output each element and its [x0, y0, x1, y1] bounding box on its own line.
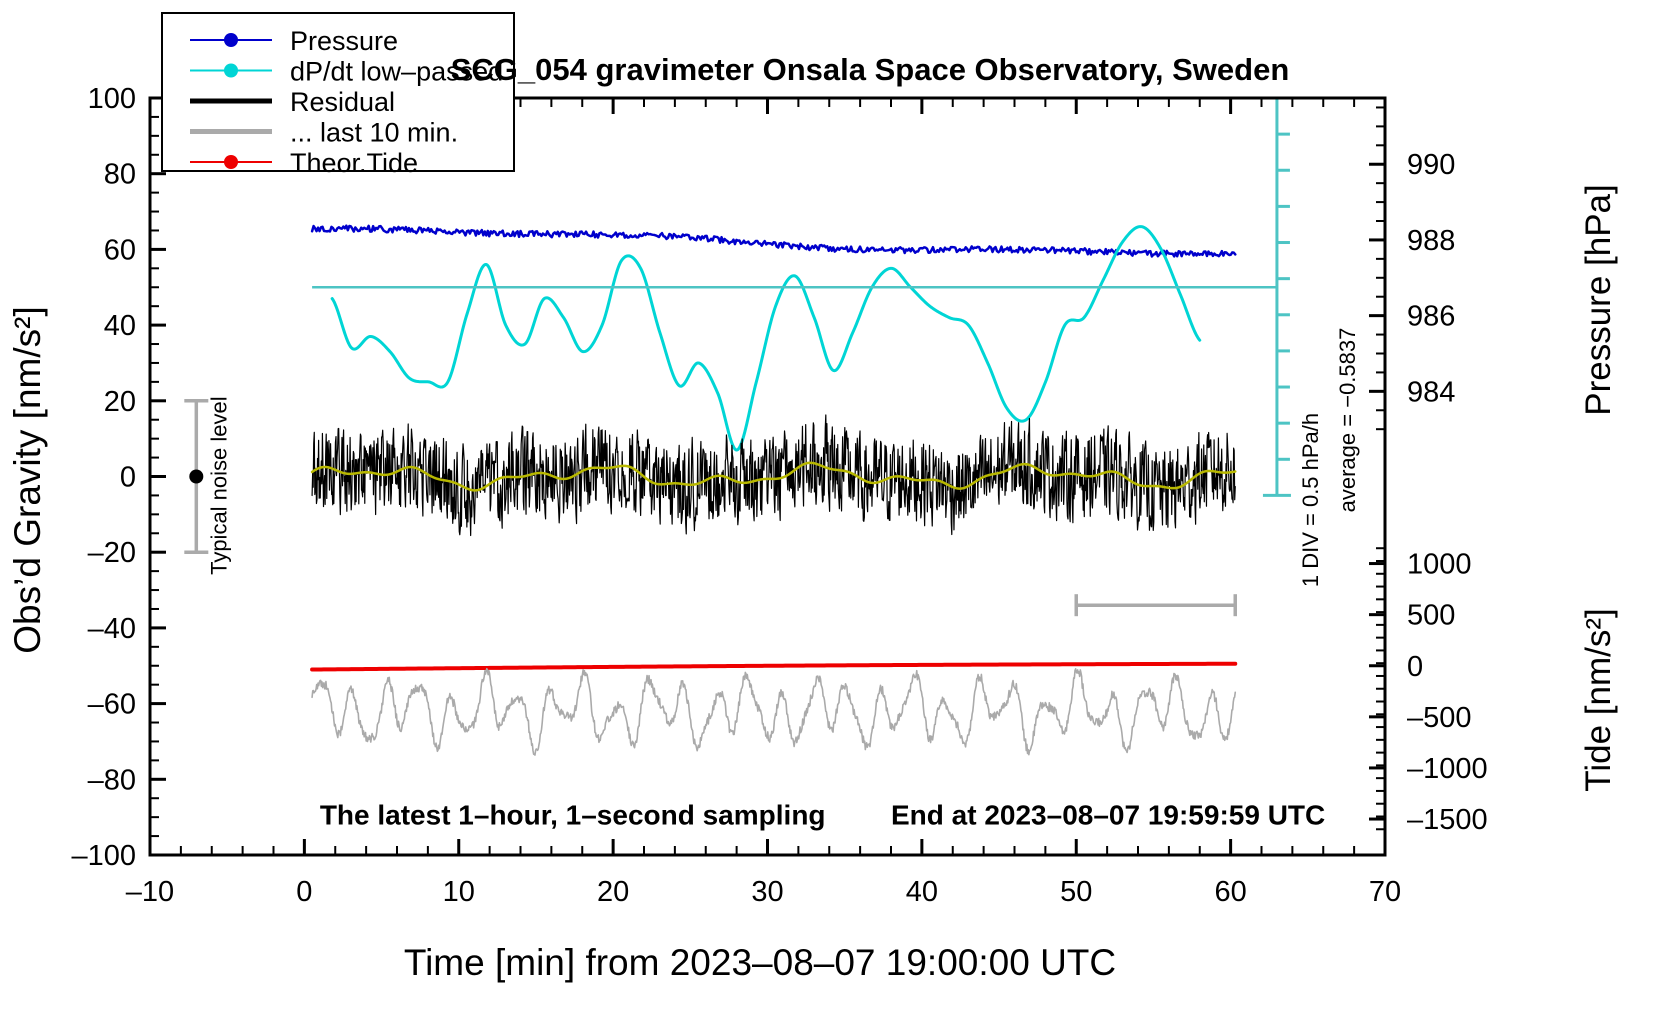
- legend-swatch-marker: [224, 155, 238, 169]
- legend-label: Theor.Tide: [290, 148, 418, 178]
- y-tick-label: 0: [120, 462, 136, 494]
- y-tick-label: 100: [88, 83, 136, 115]
- x-tick-label: 70: [1369, 876, 1401, 908]
- x-tick-label: 60: [1214, 876, 1246, 908]
- x-tick-label: –10: [126, 876, 174, 908]
- x-tick-label: 10: [443, 876, 475, 908]
- tide-axis-label: Tide [nm/s²]: [1579, 608, 1618, 791]
- x-tick-label: 40: [906, 876, 938, 908]
- tide-tick-label: –1500: [1407, 804, 1488, 836]
- legend-label: Residual: [290, 87, 395, 117]
- legend[interactable]: PressuredP/dt low–passedResidual... last…: [162, 13, 514, 178]
- y-tick-label: –20: [88, 537, 136, 569]
- tide-tick-label: 1000: [1407, 549, 1472, 581]
- x-tick-label: 30: [751, 876, 783, 908]
- y-tick-label: 80: [104, 159, 136, 191]
- y-tick-label: –80: [88, 764, 136, 796]
- end-time-note: End at 2023–08–07 19:59:59 UTC: [891, 800, 1325, 831]
- legend-label: Pressure: [290, 26, 398, 56]
- x-tick-label: 0: [296, 876, 312, 908]
- y-tick-label: 20: [104, 386, 136, 418]
- chart-page: –10010203040506070–100–80–60–40–20020406…: [0, 0, 1660, 1020]
- y-tick-label: –40: [88, 613, 136, 645]
- legend-label: ... last 10 min.: [290, 118, 458, 148]
- noise-level-label: Typical noise level: [206, 396, 231, 575]
- pressure-tick-label: 990: [1407, 149, 1455, 181]
- x-tick-label: 50: [1060, 876, 1092, 908]
- y-tick-label: –100: [71, 840, 136, 872]
- y-tick-label: 40: [104, 310, 136, 342]
- x-axis-label: Time [min] from 2023–08–07 19:00:00 UTC: [404, 942, 1116, 983]
- pressure-tick-label: 986: [1407, 301, 1455, 333]
- pressure-axis-label: Pressure [hPa]: [1579, 184, 1618, 416]
- x-tick-label: 20: [597, 876, 629, 908]
- sampling-note: The latest 1–hour, 1–second sampling: [320, 800, 826, 831]
- pressure-tick-label: 984: [1407, 376, 1455, 408]
- pressure-tick-label: 988: [1407, 225, 1455, 257]
- y-tick-label: –60: [88, 689, 136, 721]
- legend-swatch-marker: [224, 33, 238, 47]
- legend-swatch-marker: [224, 64, 238, 78]
- tide-tick-label: 500: [1407, 600, 1455, 632]
- tide-tick-label: 0: [1407, 651, 1423, 683]
- gravimeter-chart: –10010203040506070–100–80–60–40–20020406…: [0, 0, 1660, 1020]
- y-axis-label: Obs’d Gravity [nm/s²]: [7, 306, 48, 653]
- noise-bar-center-dot: [189, 470, 203, 484]
- tide-tick-label: –500: [1407, 702, 1472, 734]
- dpdt-average-label: average = −0.5837: [1335, 328, 1360, 513]
- tide-tick-label: –1000: [1407, 753, 1488, 785]
- page-title: SCG_054 gravimeter Onsala Space Observat…: [451, 52, 1290, 87]
- y-tick-label: 60: [104, 234, 136, 266]
- div-scale-label: 1 DIV = 0.5 hPa/h: [1298, 413, 1323, 587]
